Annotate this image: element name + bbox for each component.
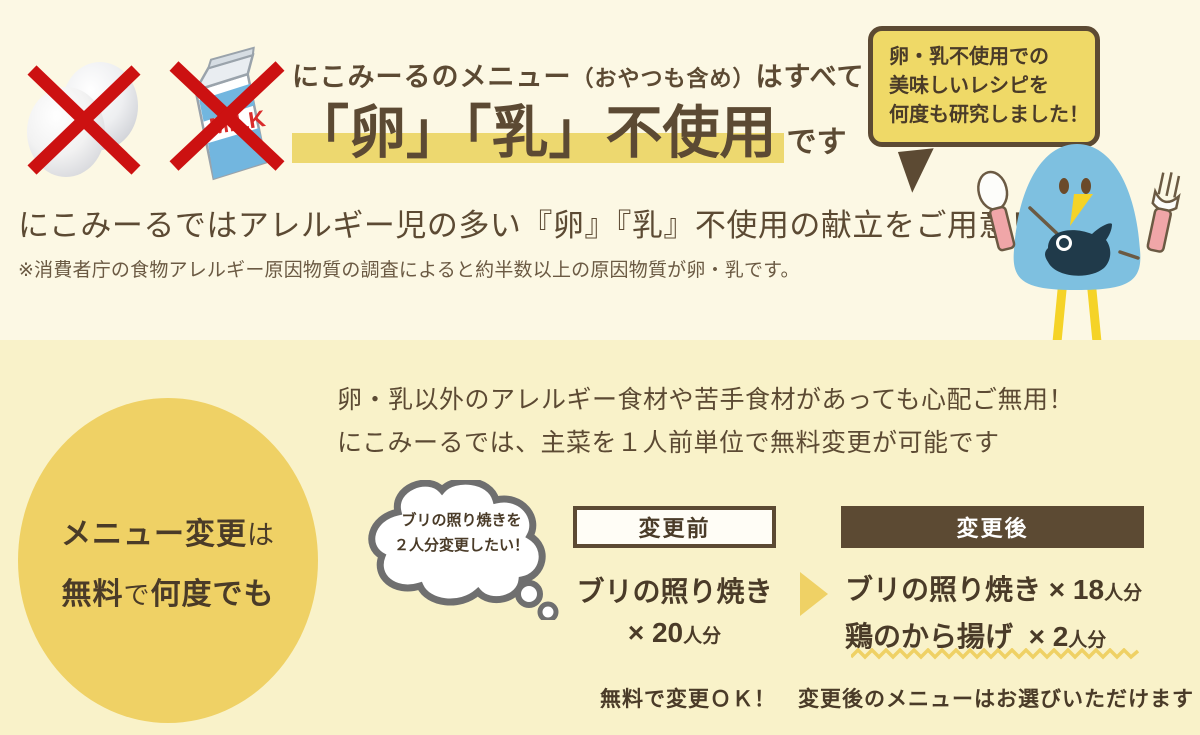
milk-carton-crossed-out-icon: MILK [158, 44, 294, 184]
circle-line-2: 無料で何度でも [61, 569, 274, 613]
thought-bubble-line-2: ２人分変更したい！ [344, 534, 579, 555]
speech-bubble-line-2: 美味しいレシピを [889, 72, 1081, 101]
circle-line1-thin: は [247, 520, 275, 550]
lead-text: にこみーるではアレルギー児の多い『卵』『乳』不使用の献立をご用意！ [18, 200, 1041, 245]
headline-big-text: 「卵」「乳」不使用 [292, 101, 777, 165]
headline-line1-part-b: （おやつも含め） [571, 66, 755, 91]
bottom-paragraph-line-2: にこみーるでは、主菜を１人前単位で無料変更が可能です [337, 423, 1000, 459]
wavy-underline [851, 648, 1141, 660]
before-header-label: 変更前 [638, 511, 710, 543]
headline-line1-part-a: にこみーるのメニュー [292, 62, 571, 92]
menu-change-circle: メニュー変更は 無料で何度でも [18, 398, 318, 723]
infographic-page: MILK にこみーるのメニュー（おやつも含め）はすべて 「卵」「乳」不使用です … [0, 0, 1200, 735]
egg-crossed-out-icon [18, 58, 150, 180]
circle-line1-strong: メニュー変更 [61, 518, 247, 551]
headline-line-2: 「卵」「乳」不使用です [292, 97, 847, 169]
before-item-quantity: × 20人分 [573, 617, 776, 649]
before-header-box: 変更前 [573, 506, 776, 548]
speech-bubble: 卵・乳不使用での 美味しいレシピを 何度も研究しました！ [868, 26, 1100, 147]
before-item-qty-value: × 20 [628, 617, 683, 648]
circle-line2-strong-a: 無料 [61, 578, 123, 611]
speech-bubble-tail [898, 148, 938, 194]
headline-line1-part-c: はすべて [755, 62, 864, 92]
after-header-box: 変更後 [841, 506, 1144, 548]
speech-bubble-line-1: 卵・乳不使用での [889, 43, 1081, 72]
thought-bubble-line-1: ブリの照り焼きを [344, 509, 579, 530]
arrow-right-triangle-icon [800, 572, 828, 616]
after-item1-name: ブリの照り焼き [845, 574, 1041, 605]
after-header-label: 変更後 [956, 511, 1028, 543]
before-item-name: ブリの照り焼き [573, 570, 776, 610]
before-item-qty-unit: 人分 [683, 626, 721, 647]
note-text: ※消費者庁の食物アレルギー原因物質の調査によると約半数以上の原因物質が卵・乳です… [18, 255, 800, 282]
speech-bubble-line-3: 何度も研究しました！ [889, 101, 1081, 130]
headline-suffix: です [787, 126, 847, 159]
after-item1-qty: × 18 [1049, 574, 1104, 605]
circle-line2-thin: で [123, 580, 150, 610]
headline-line-1: にこみーるのメニュー（おやつも含め）はすべて [292, 55, 865, 94]
after-item-1: ブリの照り焼き × 18人分 [845, 568, 1142, 608]
footer-note: 無料で変更ＯＫ！ 変更後のメニューはお選びいただけます [600, 683, 1194, 713]
circle-line-1: メニュー変更は [61, 509, 275, 553]
thought-bubble: ブリの照り焼きを ２人分変更したい！ [340, 480, 575, 620]
circle-line2-strong-b: 何度でも [151, 578, 275, 611]
bottom-paragraph-line-1: 卵・乳以外のアレルギー食材や苦手食材があっても心配ご無用！ [337, 380, 1074, 416]
after-item1-unit: 人分 [1104, 583, 1142, 604]
bird-mascot-icon [960, 130, 1200, 345]
